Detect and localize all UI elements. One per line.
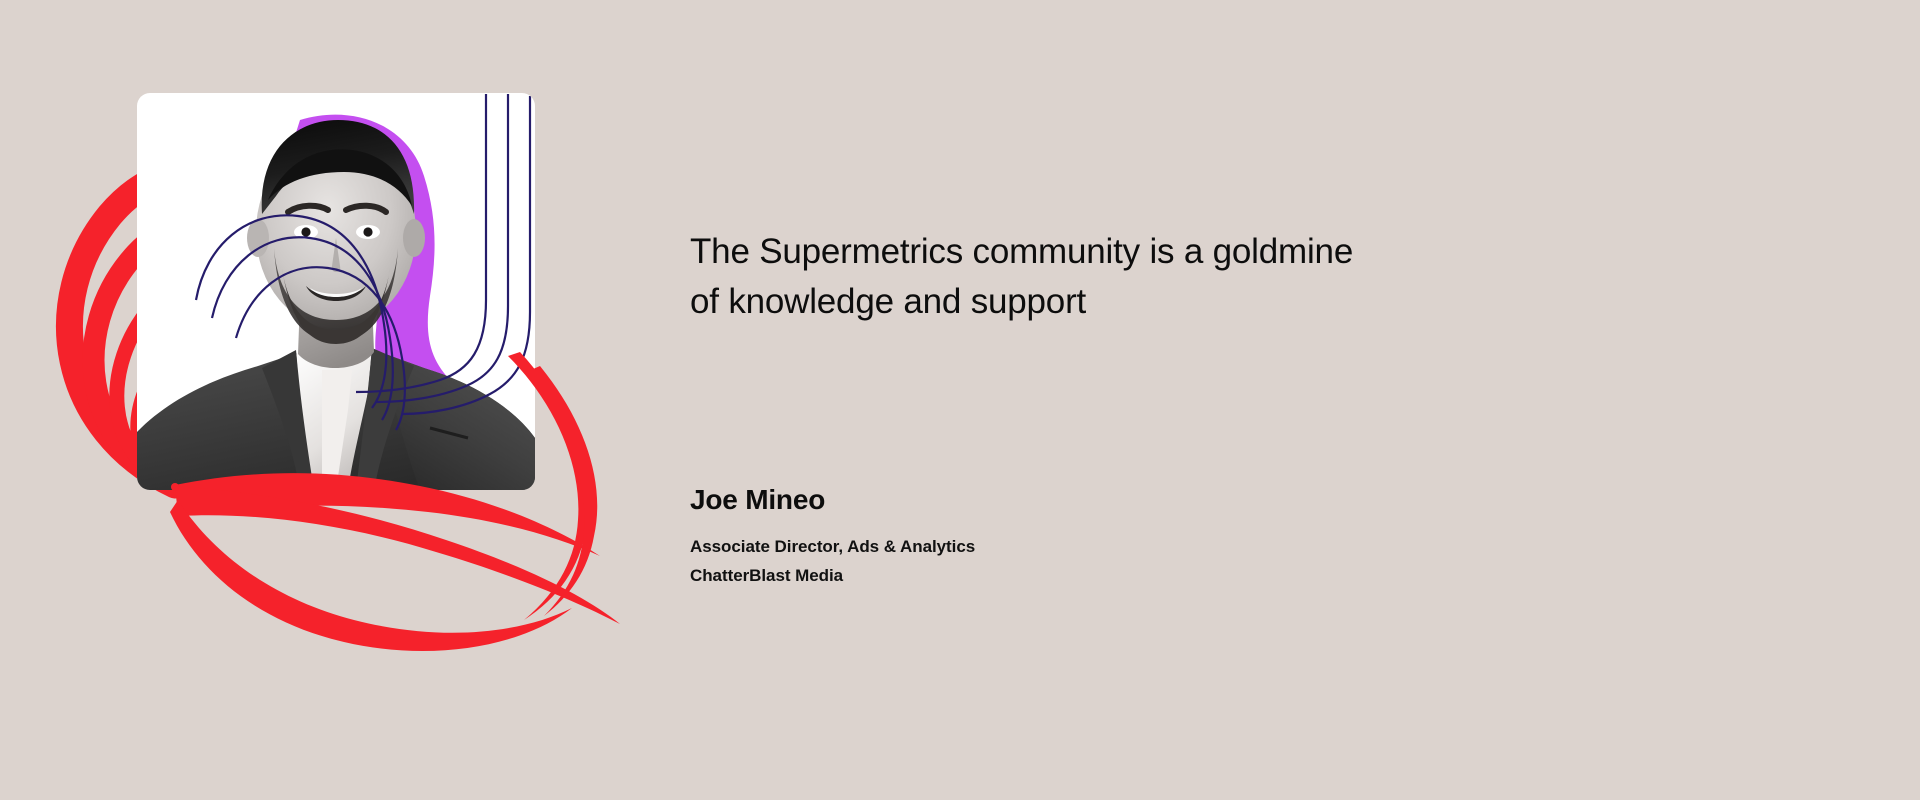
testimonial-slide: The Supermetrics community is a goldmine… xyxy=(0,0,1920,800)
decorative-graphic-group xyxy=(0,0,680,800)
page-title: The Supermetrics community is a goldmine… xyxy=(690,227,1390,326)
speaker-name: Joe Mineo xyxy=(690,482,1310,518)
speaker-attribution: Joe Mineo Associate Director, Ads & Anal… xyxy=(690,482,1310,590)
testimonial-content: The Supermetrics community is a goldmine… xyxy=(690,0,1840,800)
speaker-role: Associate Director, Ads & Analytics xyxy=(690,533,1310,562)
speaker-company: ChatterBlast Media xyxy=(690,562,1310,591)
ribbon-pinch-point xyxy=(171,483,179,491)
speaker-visual-composition xyxy=(0,0,680,800)
